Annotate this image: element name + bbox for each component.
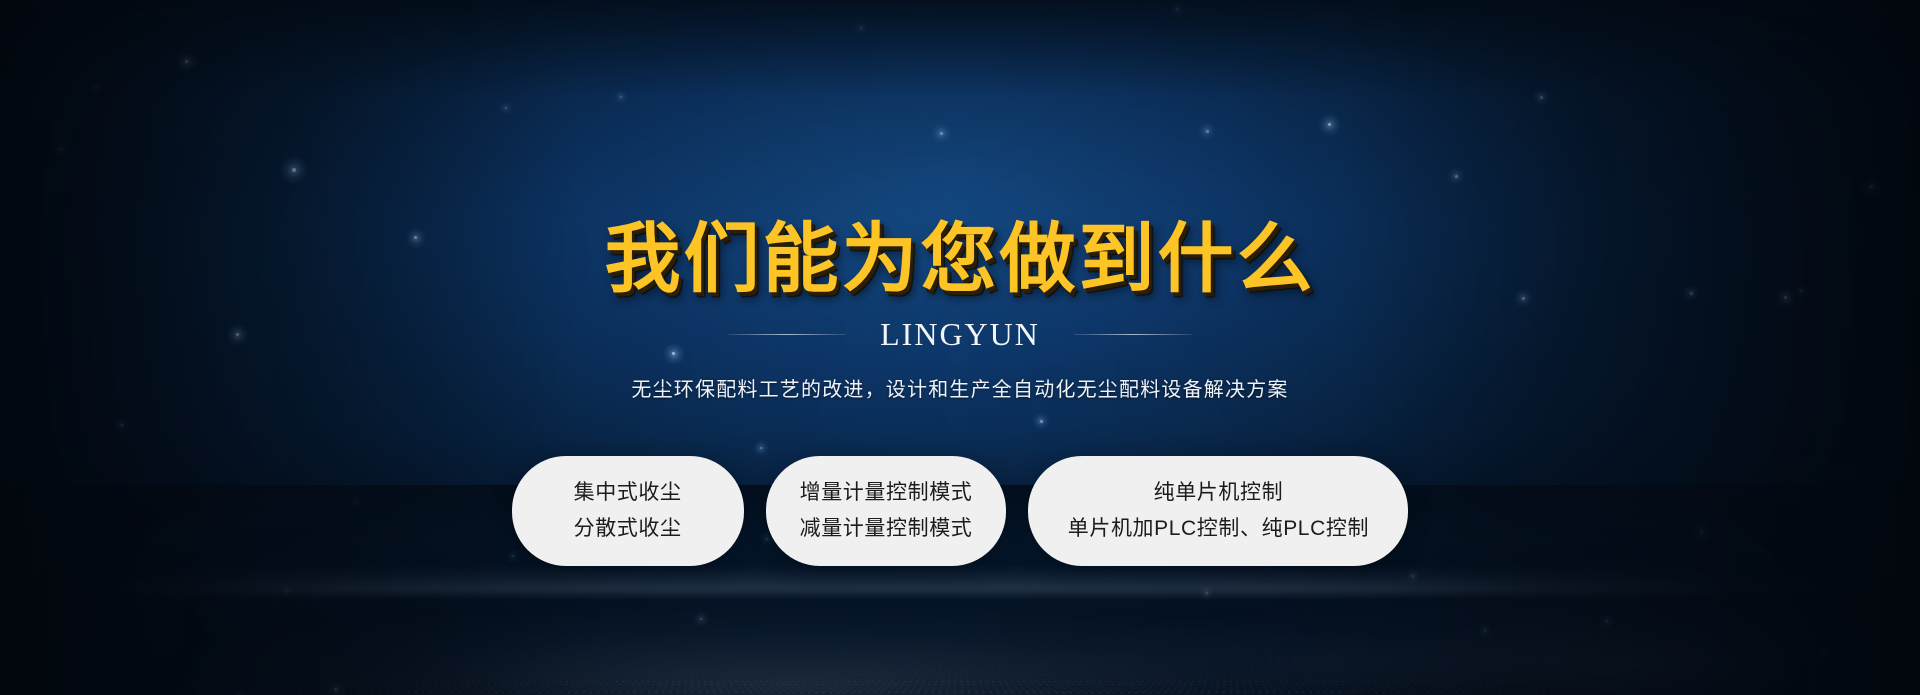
feature-pill-group: 集中式收尘 分散式收尘 增量计量控制模式 减量计量控制模式 纯单片机控制 单片机…: [512, 456, 1409, 566]
pill-line-1: 增量计量控制模式: [800, 481, 973, 505]
feature-pill-dust-collection[interactable]: 集中式收尘 分散式收尘: [512, 456, 744, 566]
feature-pill-control-system[interactable]: 纯单片机控制 单片机加PLC控制、纯PLC控制: [1028, 456, 1408, 566]
subtitle-row: LINGYUN: [728, 316, 1192, 353]
subtitle-divider-right: [1074, 334, 1192, 335]
brand-name: LINGYUN: [880, 316, 1040, 353]
hero-banner: 我们能为您做到什么 LINGYUN 无尘环保配料工艺的改进，设计和生产全自动化无…: [0, 0, 1920, 695]
pill-line-1: 纯单片机控制: [1154, 481, 1284, 505]
pill-line-2: 单片机加PLC控制、纯PLC控制: [1068, 517, 1369, 541]
banner-description: 无尘环保配料工艺的改进，设计和生产全自动化无尘配料设备解决方案: [631, 373, 1288, 402]
feature-pill-metering-mode[interactable]: 增量计量控制模式 减量计量控制模式: [766, 456, 1007, 566]
pill-line-2: 减量计量控制模式: [800, 517, 973, 541]
banner-content: 我们能为您做到什么 LINGYUN 无尘环保配料工艺的改进，设计和生产全自动化无…: [0, 0, 1920, 695]
page-title: 我们能为您做到什么: [605, 222, 1316, 298]
pill-line-2: 分散式收尘: [574, 517, 682, 541]
pill-line-1: 集中式收尘: [574, 481, 682, 505]
subtitle-divider-left: [728, 334, 846, 335]
